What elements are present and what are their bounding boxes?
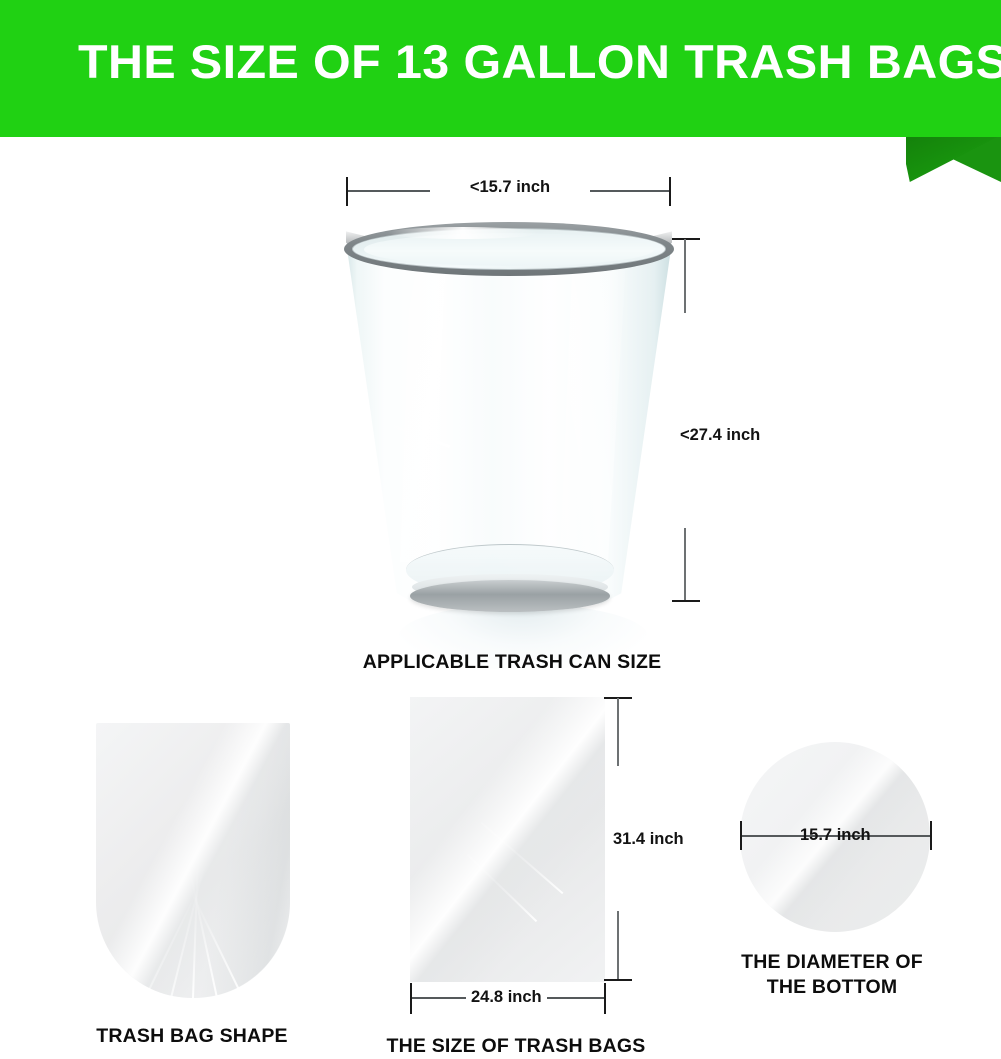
dimension-line-lower	[684, 528, 686, 601]
dimension-tick-left	[346, 177, 348, 206]
dimension-label-bag-height: 31.4 inch	[613, 830, 684, 849]
page-title: THE SIZE OF 13 GALLON TRASH BAGS	[78, 38, 964, 85]
dimension-tick-bottom	[604, 979, 632, 981]
dimension-tick-left	[740, 821, 742, 850]
dimension-tick-bottom	[672, 600, 700, 602]
caption-bottom-diameter: THE DIAMETER OF THE BOTTOM	[682, 950, 982, 1000]
can-rim-gloss	[388, 227, 538, 239]
bag-shape-sheen	[96, 723, 290, 998]
dimension-can-height: <27.4 inch	[660, 228, 740, 603]
bag-size-sheen	[410, 697, 605, 982]
dimension-line-upper	[684, 239, 686, 313]
dimension-label-top-width: <15.7 inch	[430, 177, 590, 199]
caption-bag-shape: TRASH BAG SHAPE	[42, 1024, 342, 1049]
can-base-ring	[410, 580, 610, 612]
dimension-label-bag-width: 24.8 inch	[466, 988, 547, 1007]
caption-trash-can: APPLICABLE TRASH CAN SIZE	[312, 650, 712, 675]
caption-bag-size: THE SIZE OF TRASH BAGS	[366, 1034, 666, 1059]
dimension-tick-left	[410, 983, 412, 1014]
header-banner: THE SIZE OF 13 GALLON TRASH BAGS	[0, 0, 1001, 137]
can-opening	[364, 233, 654, 266]
bag-size-figure	[410, 697, 605, 982]
dimension-line-lower	[617, 911, 619, 979]
dimension-tick-top	[672, 238, 700, 240]
trash-can-figure: <15.7 inch <27.4 inch	[330, 170, 730, 640]
dimension-tick-right	[604, 983, 606, 1014]
dimension-line-upper	[617, 698, 619, 766]
dimension-label-can-height: <27.4 inch	[680, 426, 760, 445]
infographic-canvas: THE SIZE OF 13 GALLON TRASH BAGS <15.7 i…	[0, 0, 1001, 1056]
dimension-bag-height: 31.4 inch	[604, 697, 694, 982]
dimension-tick-right	[669, 177, 671, 206]
dimension-label-diameter: 15.7 inch	[795, 826, 876, 845]
bag-shape-figure	[96, 723, 290, 998]
trash-can-illustration	[344, 222, 674, 630]
dimension-tick-right	[930, 821, 932, 850]
